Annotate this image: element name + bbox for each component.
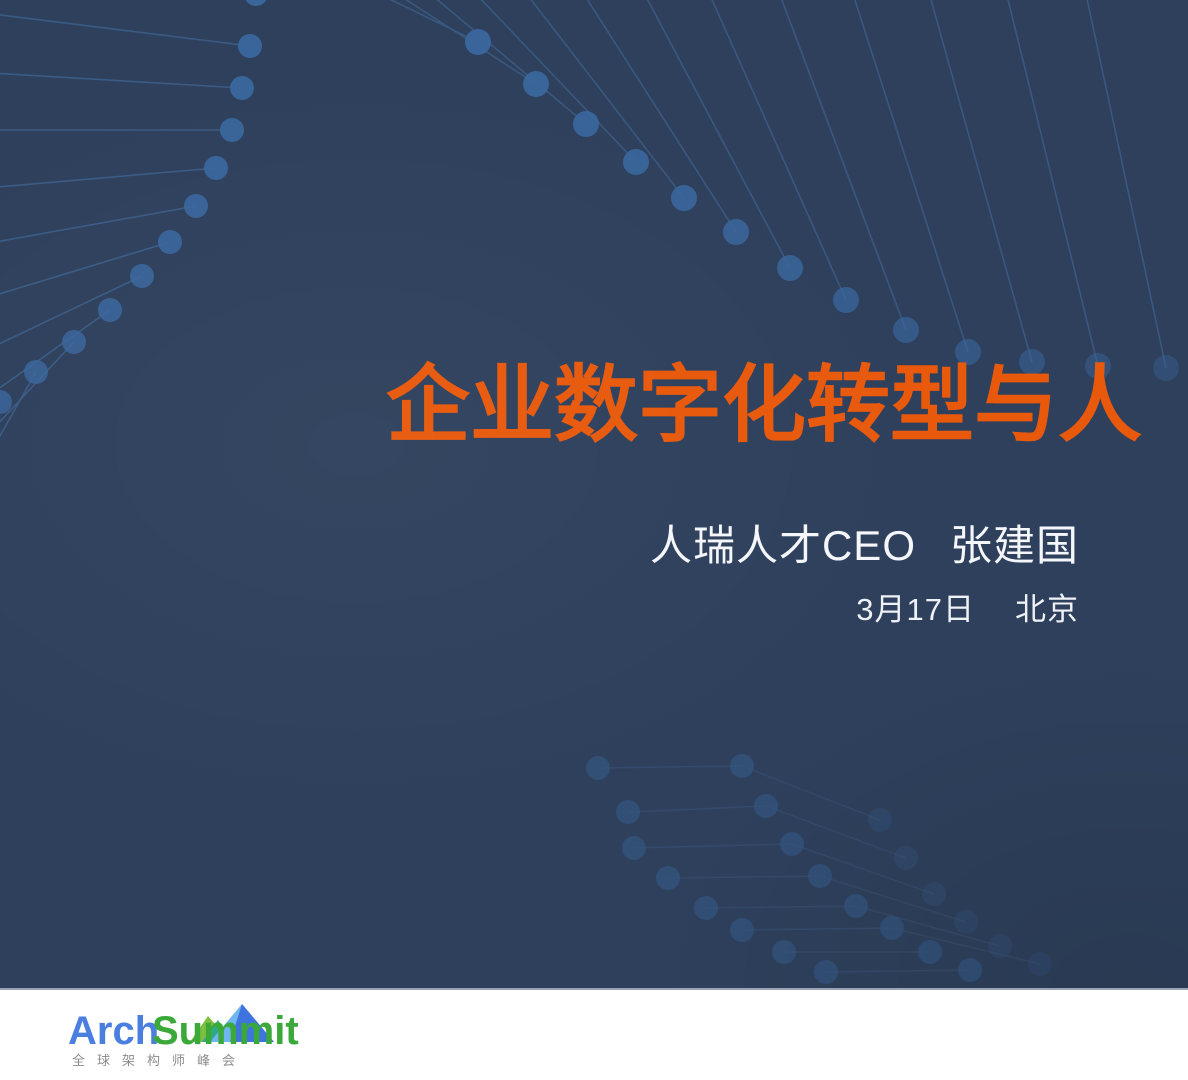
presenter-name: 张建国: [950, 522, 1079, 569]
logo-word-arch: Arch: [68, 1009, 159, 1050]
logo-word-summit: Summit: [152, 1009, 299, 1050]
presentation-slide: 企业数字化转型与人 人瑞人才CEO张建国 3月17日北京 Arch: [0, 0, 1188, 1080]
archsummit-logo: Arch Summit 全球架构师峰会: [68, 1002, 308, 1072]
event-date: 3月17日: [856, 592, 975, 627]
event-city: 北京: [1015, 592, 1079, 627]
archsummit-logo-mark: Arch Summit: [68, 1002, 308, 1050]
title-block: 企业数字化转型与人 人瑞人才CEO张建国 3月17日北京: [0, 0, 1188, 988]
logo-tagline: 全球架构师峰会: [72, 1050, 247, 1069]
presenter-line: 人瑞人才CEO张建国: [650, 512, 1079, 573]
slide-footer: Arch Summit 全球架构师峰会: [0, 988, 1188, 1080]
slide-canvas: 企业数字化转型与人 人瑞人才CEO张建国 3月17日北京: [0, 0, 1188, 988]
decorative-molecule-pattern-top: [0, 0, 1188, 988]
presenter-org-role: 人瑞人才CEO: [650, 522, 916, 569]
page-title: 企业数字化转型与人: [386, 360, 1142, 451]
event-meta-line: 3月17日北京: [856, 584, 1079, 629]
decorative-molecule-pattern-bottom: [0, 0, 1188, 988]
